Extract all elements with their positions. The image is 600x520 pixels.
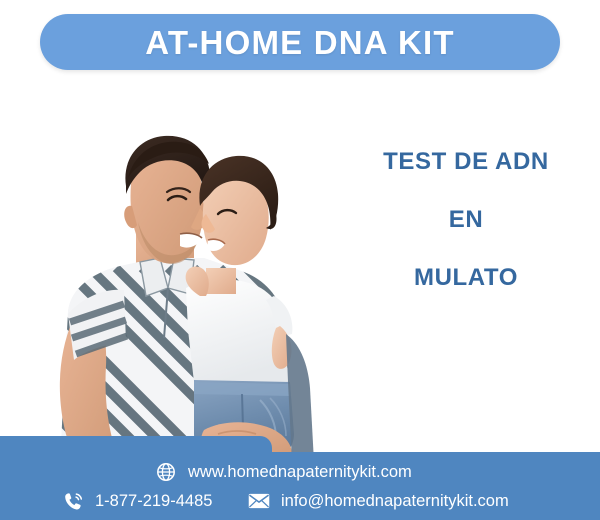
subject-line-2: EN xyxy=(340,208,592,232)
footer-contact-rows: www.homednapaternitykit.com 1-877-219-44… xyxy=(0,452,600,520)
subject-line-3: MULATO xyxy=(340,266,592,290)
father-and-child-photo xyxy=(8,82,338,462)
globe-icon xyxy=(155,461,177,483)
footer-phone-item[interactable]: 1-877-219-4485 xyxy=(62,490,212,512)
footer-phone-text: 1-877-219-4485 xyxy=(95,493,212,510)
footer-website-item[interactable]: www.homednapaternitykit.com xyxy=(155,461,412,483)
header-banner: AT-HOME DNA KIT xyxy=(40,14,560,70)
footer-contact-bar: www.homednapaternitykit.com 1-877-219-44… xyxy=(0,436,600,520)
envelope-icon xyxy=(248,490,270,512)
footer-email-item[interactable]: info@homednapaternitykit.com xyxy=(248,490,509,512)
footer-email-text: info@homednapaternitykit.com xyxy=(281,493,509,510)
poster-canvas: AT-HOME DNA KIT xyxy=(0,0,600,520)
father-and-child-illustration xyxy=(8,82,338,462)
subject-text-block: TEST DE ADN EN MULATO xyxy=(340,150,592,290)
phone-icon xyxy=(62,490,84,512)
page-title: AT-HOME DNA KIT xyxy=(145,26,454,59)
footer-website-text: www.homednapaternitykit.com xyxy=(188,464,412,481)
subject-line-1: TEST DE ADN xyxy=(340,150,592,174)
